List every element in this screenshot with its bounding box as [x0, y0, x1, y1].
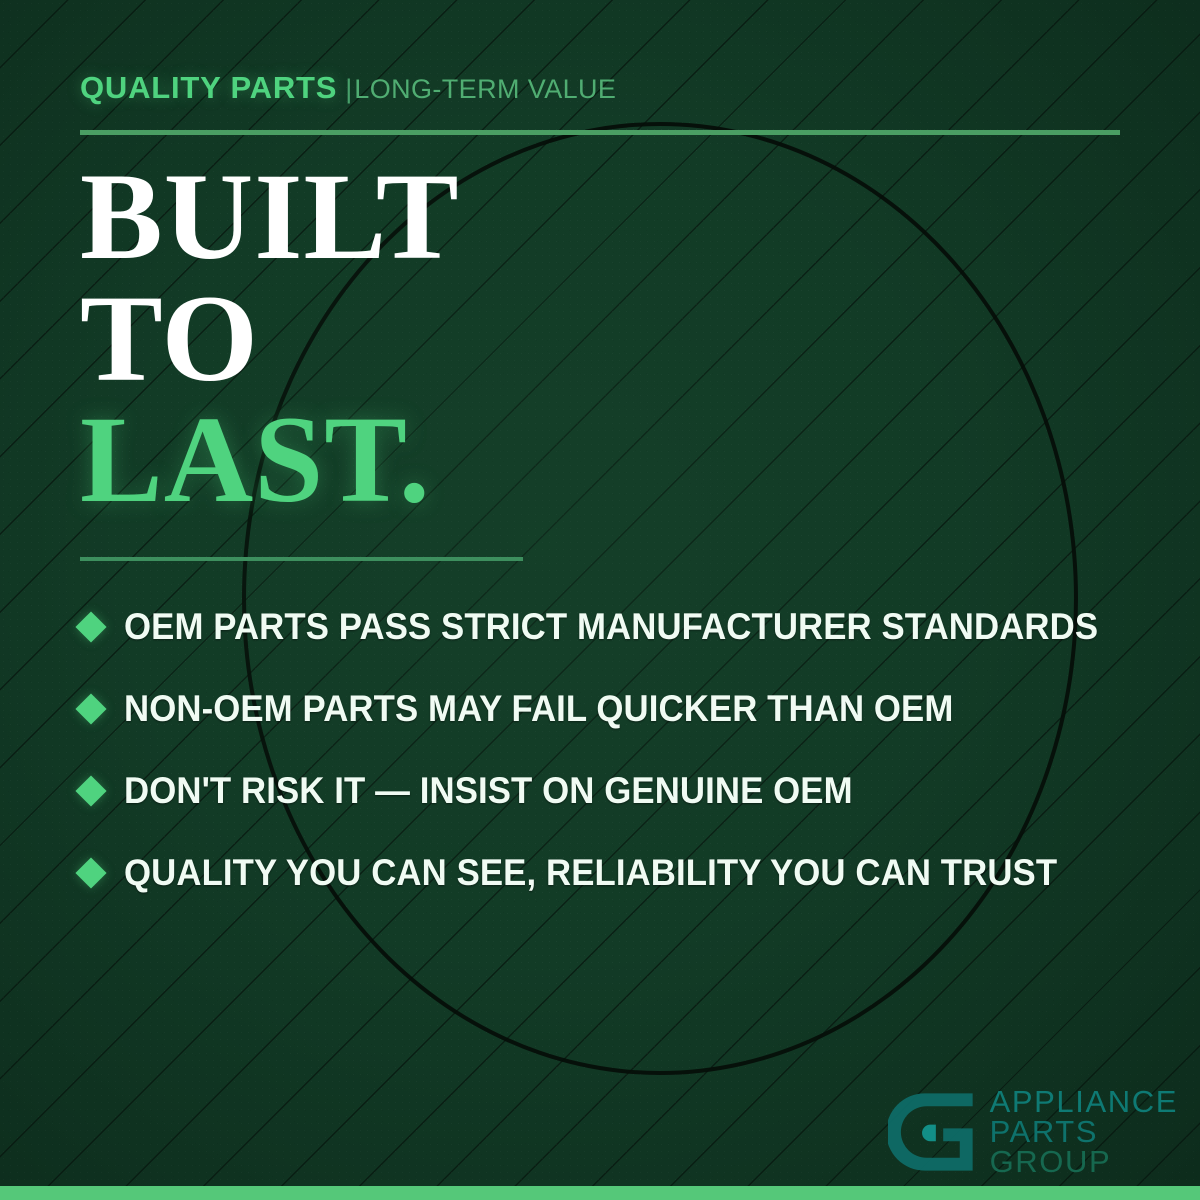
diamond-bullet-icon: [75, 857, 106, 888]
list-item-label: DON'T RISK IT — INSIST ON GENUINE OEM: [124, 770, 853, 812]
list-item-label: OEM PARTS PASS STRICT MANUFACTURER STAND…: [124, 606, 1098, 648]
diamond-bullet-icon: [75, 611, 106, 642]
kicker-eyebrow: QUALITY PARTS|LONG-TERM VALUE: [80, 72, 616, 103]
list-item: QUALITY YOU CAN SEE, RELIABILITY YOU CAN…: [80, 832, 1150, 914]
list-item-label: QUALITY YOU CAN SEE, RELIABILITY YOU CAN…: [124, 852, 1057, 894]
logo-line-2: PARTS: [990, 1117, 1178, 1147]
headline-block: BUILT TO LAST.: [80, 156, 460, 521]
bottom-accent-bar: [0, 1186, 1200, 1200]
brand-logo: APPLIANCE PARTS GROUP: [888, 1086, 1178, 1178]
list-item: DON'T RISK IT — INSIST ON GENUINE OEM: [80, 750, 1150, 832]
kicker-main-text: QUALITY PARTS: [80, 70, 337, 105]
g-letter-logo-icon: [888, 1086, 980, 1178]
headline-divider-rule: [80, 557, 523, 561]
list-item: OEM PARTS PASS STRICT MANUFACTURER STAND…: [80, 586, 1150, 668]
kicker-sub-text: LONG-TERM VALUE: [354, 74, 616, 104]
benefits-list: OEM PARTS PASS STRICT MANUFACTURER STAND…: [80, 586, 1150, 914]
logo-line-3: GROUP: [990, 1147, 1178, 1177]
header-divider-rule: [80, 130, 1120, 135]
headline-line-2: TO: [80, 278, 460, 400]
kicker-separator: |: [345, 74, 352, 104]
headline-line-3: LAST.: [80, 399, 460, 521]
logo-line-1: APPLIANCE: [990, 1087, 1178, 1117]
headline-line-1: BUILT: [80, 156, 460, 278]
diamond-bullet-icon: [75, 693, 106, 724]
list-item-label: NON-OEM PARTS MAY FAIL QUICKER THAN OEM: [124, 688, 953, 730]
promo-poster: QUALITY PARTS|LONG-TERM VALUE BUILT TO L…: [0, 0, 1200, 1200]
brand-logo-wordmark: APPLIANCE PARTS GROUP: [990, 1087, 1178, 1177]
list-item: NON-OEM PARTS MAY FAIL QUICKER THAN OEM: [80, 668, 1150, 750]
diamond-bullet-icon: [75, 775, 106, 806]
